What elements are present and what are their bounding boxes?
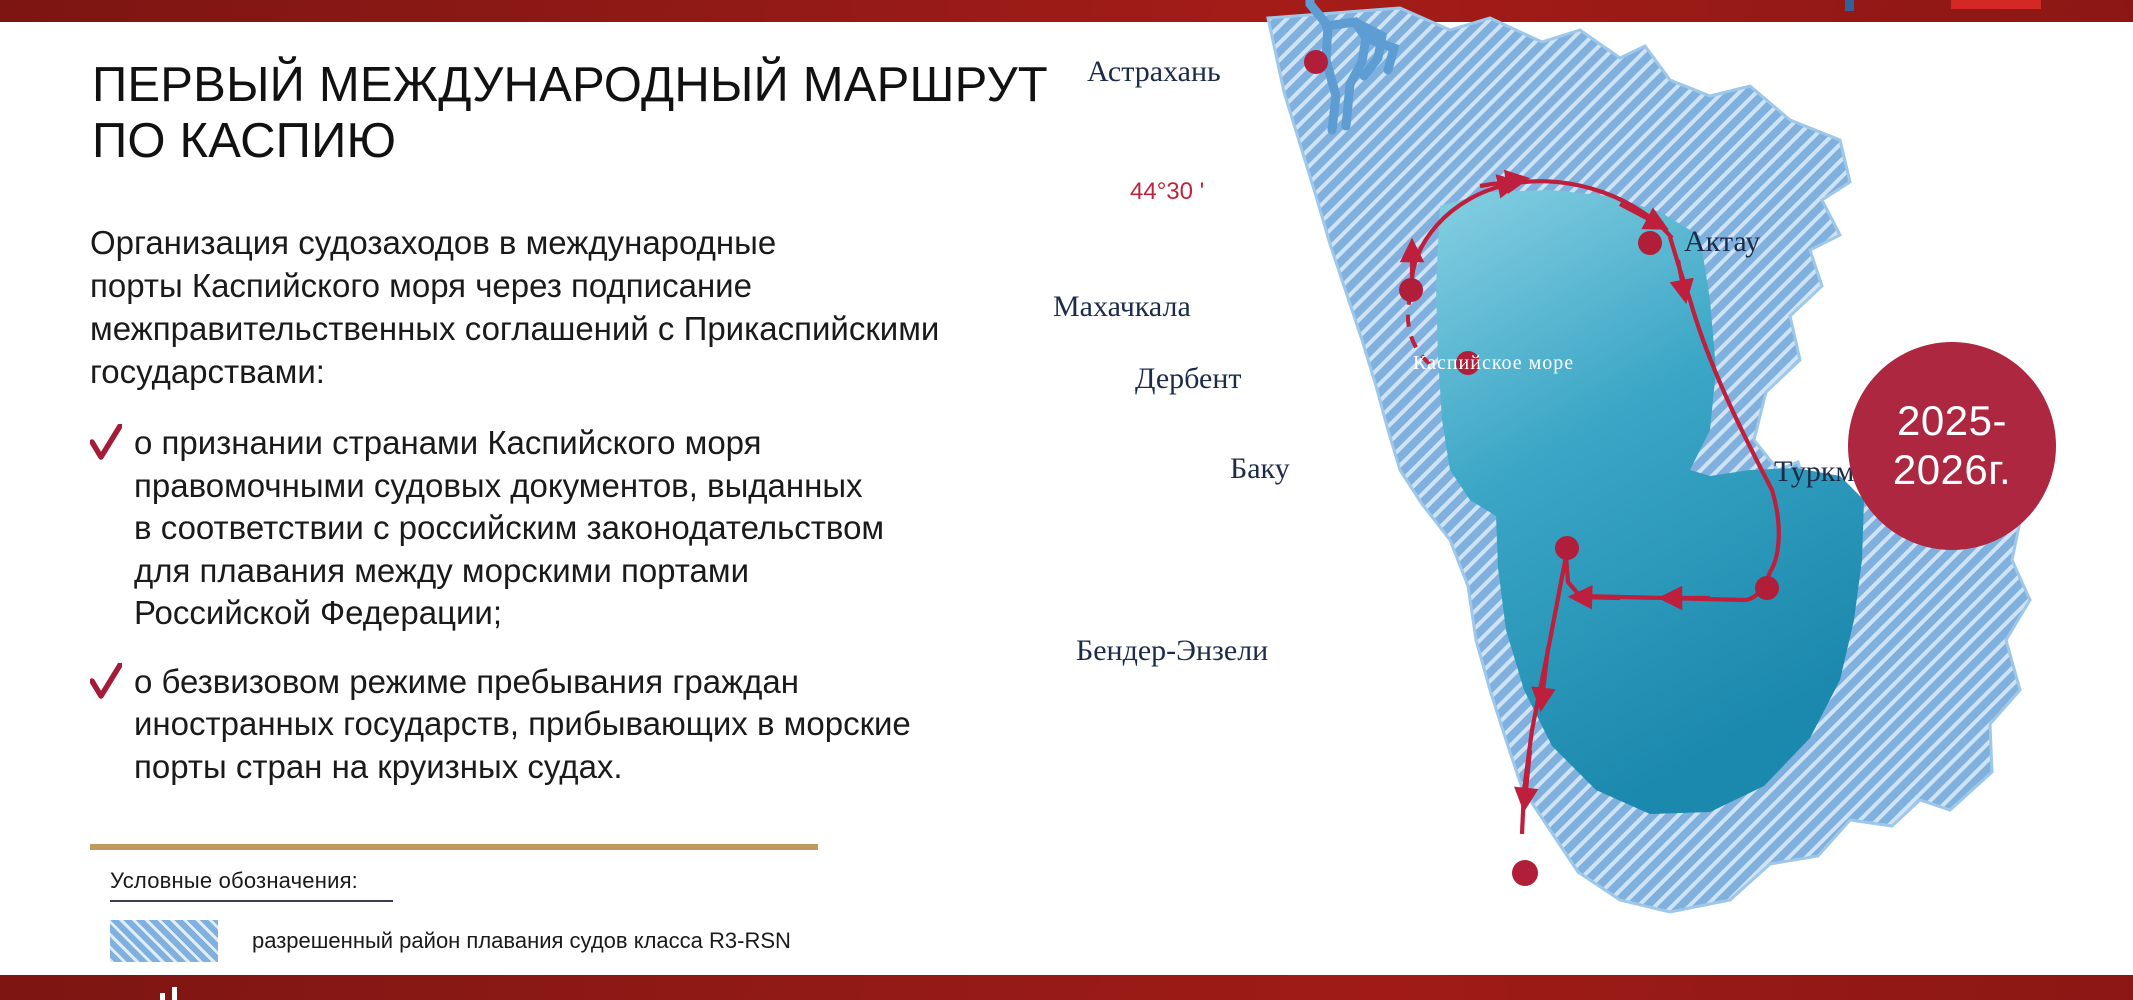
list-item-text: о безвизовом режиме пребывания граждан и…	[134, 661, 1180, 789]
city-label-astrahan: Астрахань	[1087, 55, 1221, 89]
legend-item-label: разрешенный район плавания судов класса …	[252, 928, 791, 954]
slide-root: ПЕРВЫЙ МЕЖДУНАРОДНЫЙ МАРШРУТ ПО КАСПИЮ О…	[0, 0, 2133, 1000]
list-item: о безвизовом режиме пребывания граждан и…	[90, 661, 1180, 789]
legend-title: Условные обозначения:	[110, 868, 358, 894]
port-dot-astrakhan	[1304, 50, 1328, 74]
port-dot-makhachkala	[1399, 278, 1423, 302]
date-badge: 2025- 2026г.	[1848, 342, 2056, 550]
coordinate-label: 44°30 '	[1130, 178, 1204, 206]
city-label-aktau: Актау	[1684, 225, 1760, 259]
page-title: ПЕРВЫЙ МЕЖДУНАРОДНЫЙ МАРШРУТ ПО КАСПИЮ	[92, 58, 1152, 170]
legend-title-underline	[110, 900, 393, 902]
port-dot-baku	[1555, 536, 1579, 560]
city-label-baku: Баку	[1230, 452, 1290, 486]
port-dot-turkmenbashi	[1755, 576, 1779, 600]
city-label-mahachkala: Махачкала	[1053, 290, 1191, 324]
content-column: ПЕРВЫЙ МЕЖДУНАРОДНЫЙ МАРШРУТ ПО КАСПИЮ О…	[0, 22, 1180, 975]
legend-item: разрешенный район плавания судов класса …	[110, 920, 791, 962]
date-badge-text: 2025- 2026г.	[1893, 397, 2011, 494]
intro-paragraph: Организация судозаходов в международные …	[90, 222, 1180, 394]
legend-swatch-hatched-blue	[110, 920, 218, 962]
sea-name-label: Каспийское море	[1413, 352, 1574, 375]
bottom-logo-fragment	[160, 986, 220, 1000]
checkmark-icon	[90, 663, 122, 703]
port-dot-aktau	[1638, 231, 1662, 255]
checkmark-icon	[90, 424, 122, 464]
port-dot-bandar-anzali	[1512, 860, 1538, 886]
bottom-accent-bar	[0, 975, 2133, 1000]
bullet-list: о признании странами Каспийского моря пр…	[90, 422, 1180, 815]
list-item-text: о признании странами Каспийского моря пр…	[134, 422, 1180, 635]
legend-divider	[90, 844, 818, 850]
city-label-derbent: Дербент	[1135, 362, 1242, 396]
city-label-bender-enzeli: Бендер-Энзели	[1076, 634, 1268, 668]
list-item: о признании странами Каспийского моря пр…	[90, 422, 1180, 635]
